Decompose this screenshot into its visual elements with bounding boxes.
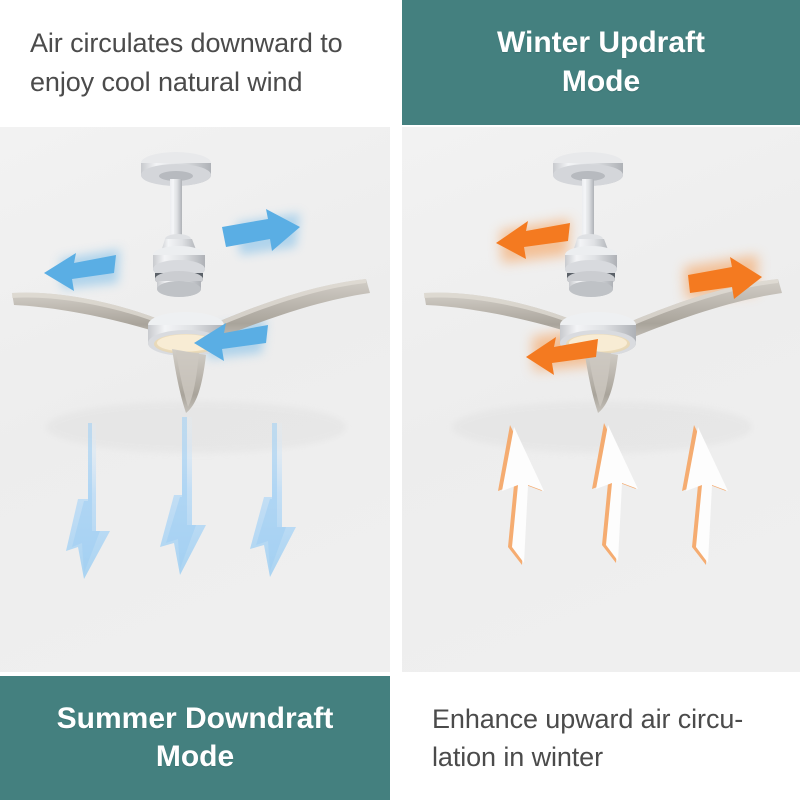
winter-caption-line-2: lation in winter: [432, 742, 603, 772]
winter-title-line-2: Mode: [562, 65, 640, 98]
summer-mode-banner: Summer Downdraft Mode: [0, 676, 390, 800]
winter-updraft-illustration: [402, 127, 800, 672]
summer-title-line-2: Mode: [156, 740, 234, 773]
summer-title-line-1: Summer Downdraft: [57, 702, 334, 735]
winter-caption-line-1: Enhance upward air circu-: [432, 704, 743, 734]
winter-caption-text: Enhance upward air circu- lation in wint…: [402, 700, 753, 777]
summer-downdraft-illustration: [0, 127, 390, 672]
infographic-root: Air circulates downward to enjoy cool na…: [0, 0, 800, 800]
winter-title-line-1: Winter Updraft: [497, 26, 705, 59]
summer-caption-text: Air circulates downward to enjoy cool na…: [0, 24, 390, 101]
winter-mode-banner-text: Winter Updraft Mode: [483, 24, 719, 101]
summer-mode-banner-text: Summer Downdraft Mode: [43, 700, 348, 777]
winter-caption-panel: Enhance upward air circu- lation in wint…: [402, 676, 800, 800]
winter-mode-banner: Winter Updraft Mode: [402, 0, 800, 125]
summer-caption-panel: Air circulates downward to enjoy cool na…: [0, 0, 390, 125]
